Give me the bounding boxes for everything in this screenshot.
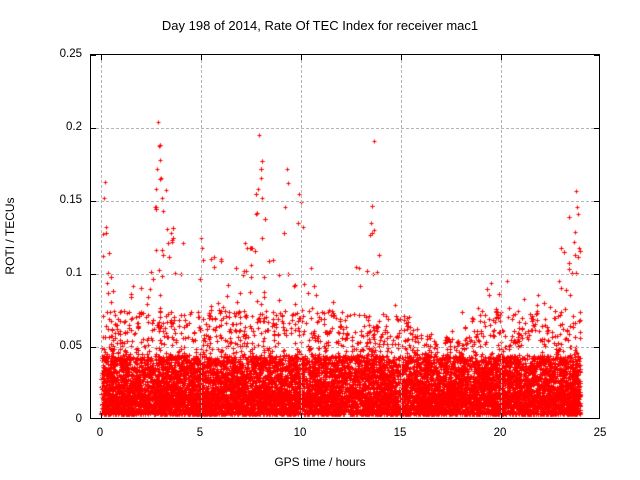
y-tick-right xyxy=(594,55,599,56)
y-tick-label: 0 xyxy=(0,413,82,425)
y-axis-title: ROTI / TECUs xyxy=(3,197,17,274)
y-tick-label: 0.05 xyxy=(0,340,82,352)
x-tick-top xyxy=(301,55,302,60)
y-tick-label: 0.25 xyxy=(0,48,82,60)
gridline-vertical xyxy=(101,55,102,418)
gridline-horizontal xyxy=(91,128,599,129)
y-tick xyxy=(91,347,96,348)
y-tick xyxy=(91,201,96,202)
gridline-vertical xyxy=(501,55,502,418)
x-tick xyxy=(101,413,102,418)
x-axis-title: GPS time / hours xyxy=(0,455,640,469)
plot-area xyxy=(90,54,600,419)
x-tick xyxy=(201,413,202,418)
scatter-data-layer xyxy=(91,55,600,419)
y-tick-right xyxy=(594,347,599,348)
chart-title: Day 198 of 2014, Rate Of TEC Index for r… xyxy=(0,18,640,33)
gridline-horizontal xyxy=(91,347,599,348)
y-tick-right xyxy=(594,128,599,129)
x-tick-label: 5 xyxy=(197,427,203,439)
x-tick-label: 20 xyxy=(494,427,507,439)
y-tick xyxy=(91,55,96,56)
x-tick xyxy=(401,413,402,418)
y-tick xyxy=(91,274,96,275)
gridline-horizontal xyxy=(91,274,599,275)
gridline-vertical xyxy=(301,55,302,418)
gridline-vertical xyxy=(401,55,402,418)
y-tick-right xyxy=(594,201,599,202)
x-tick-top xyxy=(101,55,102,60)
x-tick-label: 25 xyxy=(594,427,607,439)
x-tick-top xyxy=(201,55,202,60)
x-tick-label: 10 xyxy=(294,427,307,439)
gridline-horizontal xyxy=(91,201,599,202)
x-tick xyxy=(501,413,502,418)
x-tick xyxy=(301,413,302,418)
x-tick-top xyxy=(401,55,402,60)
chart-container: Day 198 of 2014, Rate Of TEC Index for r… xyxy=(0,0,640,480)
y-tick-label: 0.2 xyxy=(0,121,82,133)
x-tick-top xyxy=(501,55,502,60)
y-tick xyxy=(91,128,96,129)
x-tick-label: 15 xyxy=(394,427,407,439)
y-tick-right xyxy=(594,274,599,275)
x-tick-label: 0 xyxy=(97,427,103,439)
gridline-vertical xyxy=(201,55,202,418)
